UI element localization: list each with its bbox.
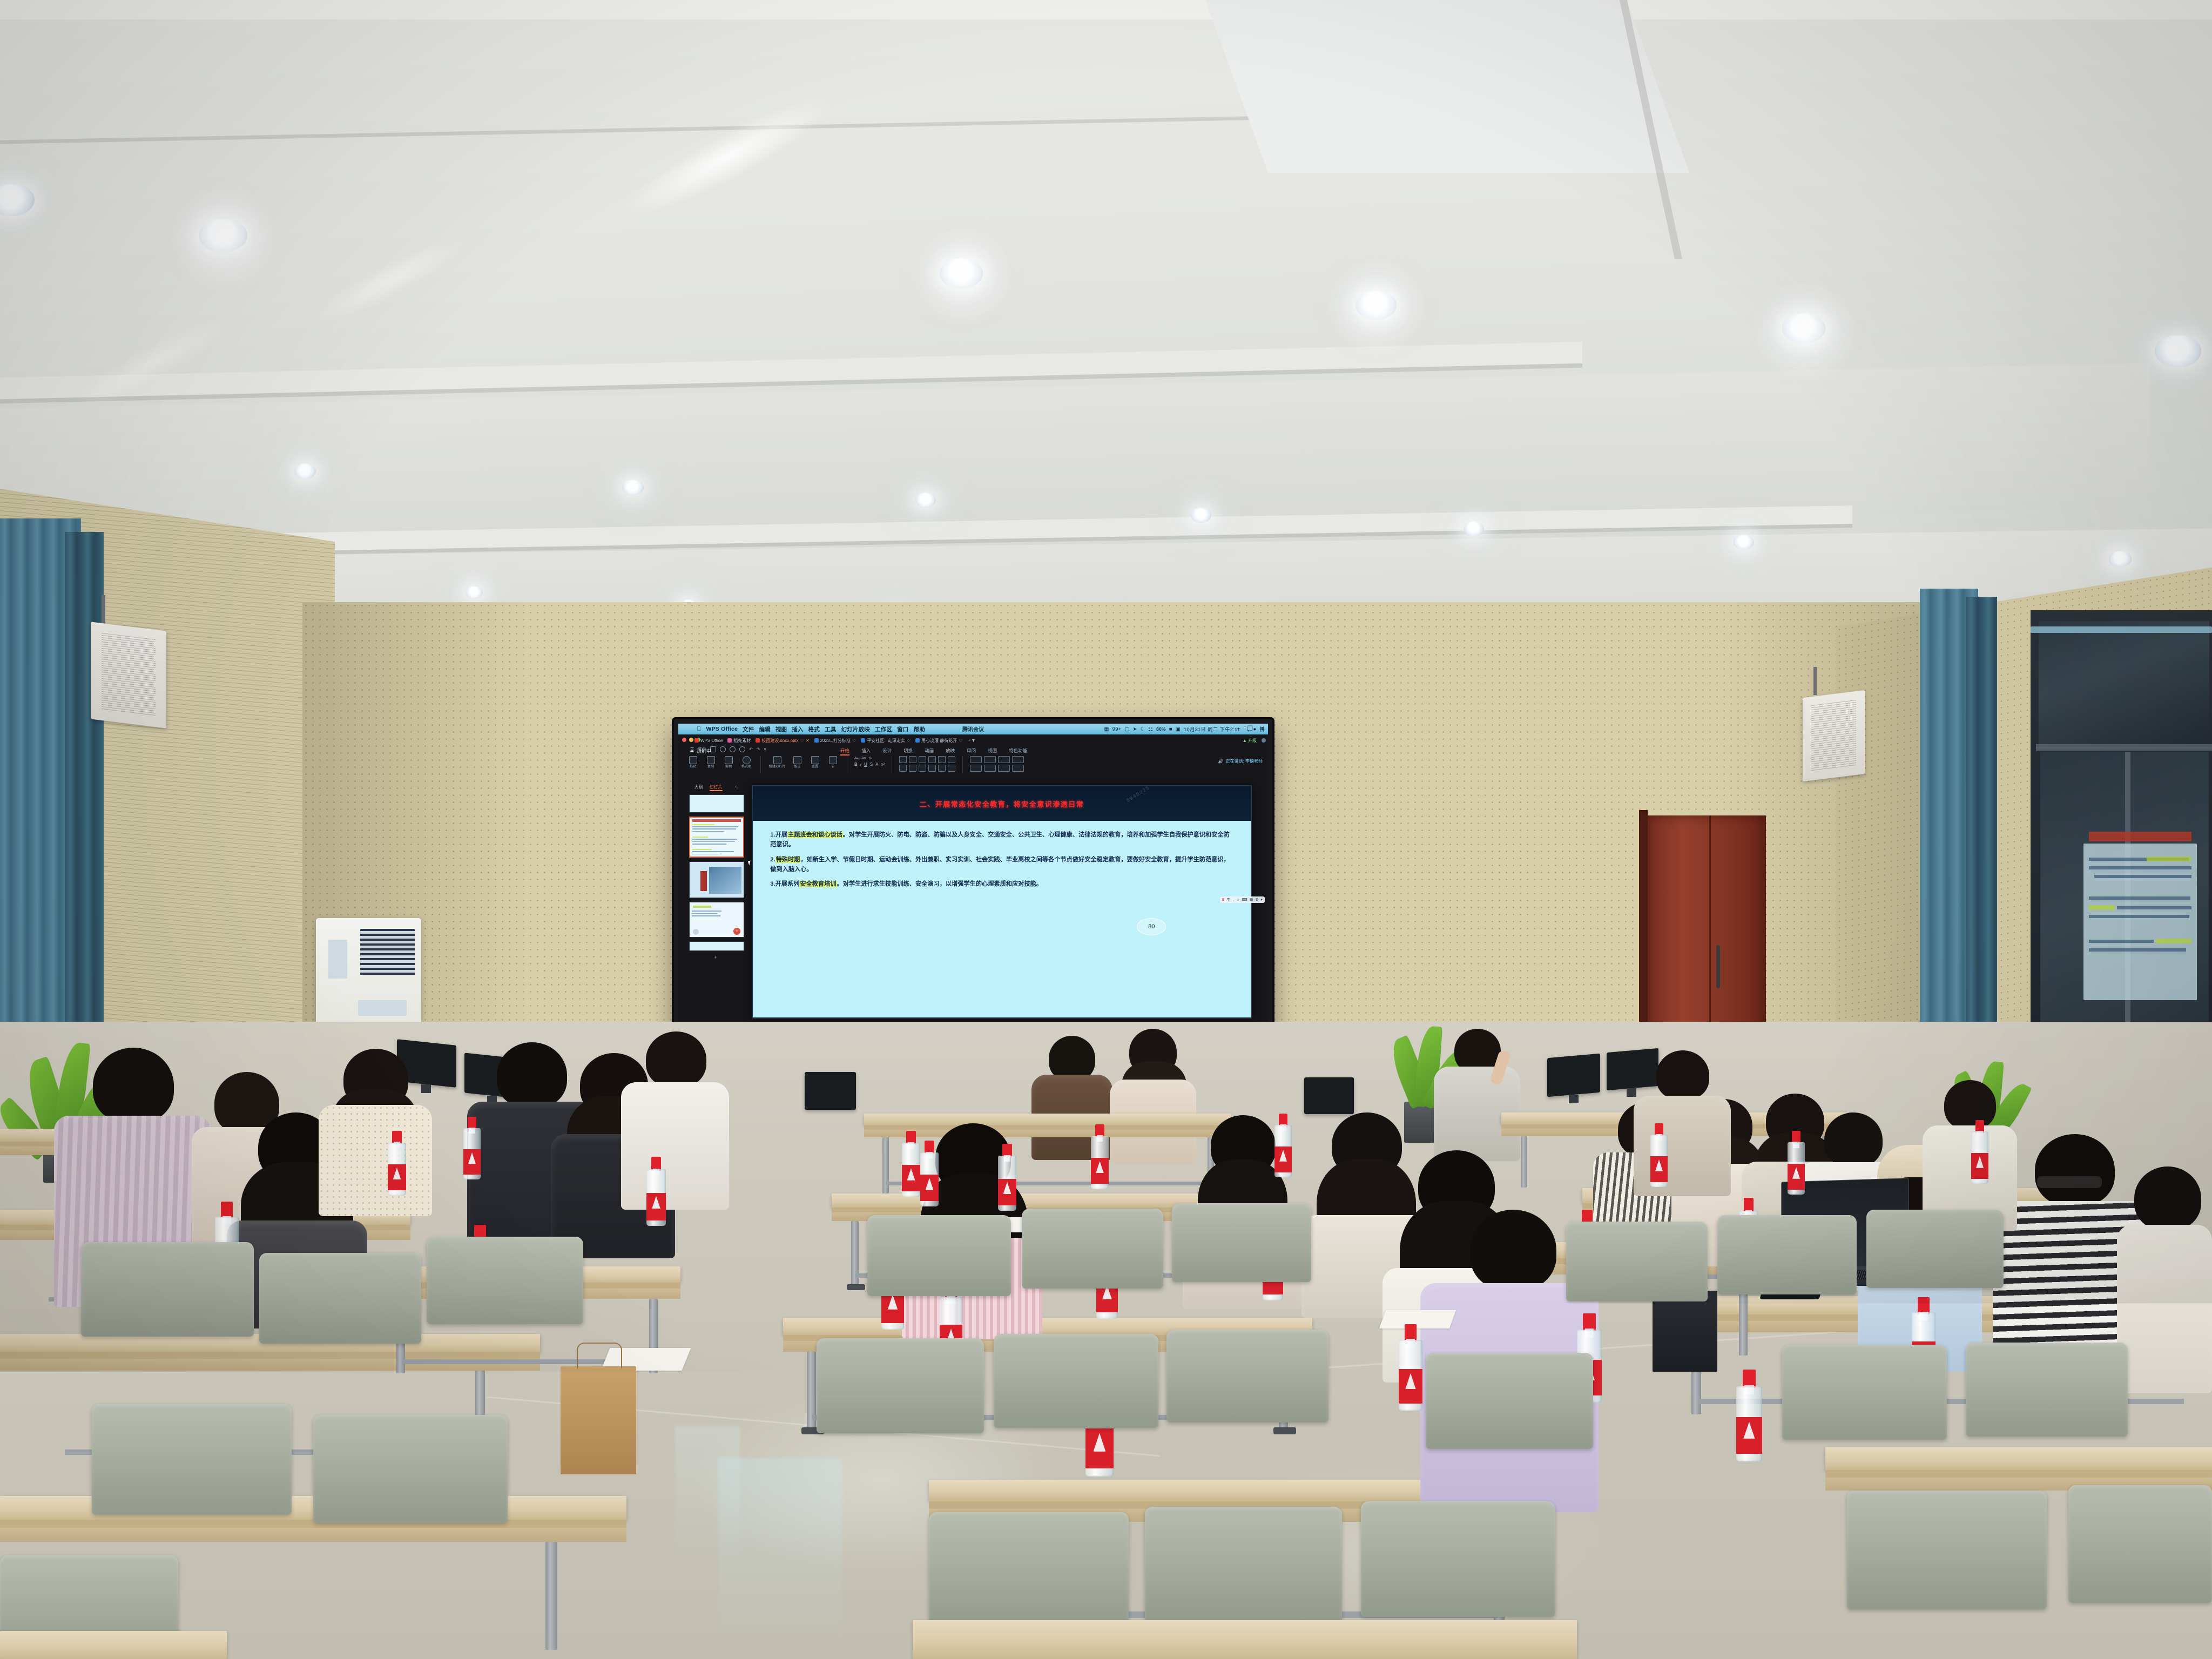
undo-icon[interactable]: ↶ — [749, 747, 753, 752]
ceiling-downlight — [622, 480, 644, 495]
tab-slides[interactable]: 幻灯片 — [710, 784, 723, 791]
ribbon-group-paragraph[interactable] — [899, 756, 955, 772]
water-bottle — [1091, 1124, 1109, 1189]
thumbnail-play-badge — [693, 929, 699, 935]
slide-thumbnail[interactable]: 8 + — [689, 902, 744, 938]
window-controls[interactable]: − ❐ ✕ — [1237, 725, 1265, 732]
bold-icon[interactable]: B — [854, 762, 858, 767]
window-pane-upper — [2039, 621, 2209, 745]
water-bottle — [388, 1131, 406, 1196]
water-bottle — [920, 1141, 939, 1206]
format-painter-icon — [743, 756, 751, 764]
pptx-icon — [756, 738, 760, 743]
thumbnail-title-bar — [693, 906, 711, 908]
conference-room-photo:  WPS Office 文件 编辑 视图 插入 格式 工具 幻灯片放映 工作区… — [0, 0, 2212, 1659]
tab-close-icon[interactable]: ✕ — [806, 738, 810, 743]
wall-speaker-right — [1803, 690, 1865, 781]
chair[interactable] — [427, 1237, 583, 1342]
ribbon-button-copy[interactable]: 复制 — [704, 756, 718, 769]
sogou-logo-icon[interactable]: S — [1222, 898, 1225, 902]
tab-pin-icon-3[interactable]: ♡ — [907, 738, 911, 743]
tab-pin-icon-4[interactable]: ♡ — [959, 738, 962, 743]
avatar[interactable] — [1262, 738, 1266, 743]
thumbnail-add-badge[interactable]: + — [733, 928, 740, 935]
chair[interactable] — [1426, 1353, 1593, 1467]
maximize-button[interactable]: ❐ — [1247, 725, 1253, 732]
current-slide[interactable]: 二、开展常态化安全教育，将安全意识渗透日常 5948225 1.开展主题班会和谈… — [752, 785, 1252, 1019]
wall-speaker-left — [91, 622, 166, 728]
chair[interactable] — [1966, 1343, 2128, 1455]
text-direction-icon[interactable] — [948, 756, 955, 763]
slide-thumbnail[interactable]: 7 — [689, 861, 744, 898]
italic-icon[interactable]: I — [860, 762, 861, 767]
align-left-icon[interactable] — [899, 765, 907, 772]
water-bottle — [1736, 1370, 1762, 1461]
add-slide-button[interactable]: + — [684, 955, 747, 961]
screen-floor-reflection-2 — [675, 1426, 740, 1566]
chair[interactable] — [1717, 1215, 1857, 1310]
chair[interactable] — [1166, 1330, 1328, 1440]
attendee — [621, 1031, 729, 1210]
slide-paragraph-1: 1.开展主题班会和谈心谈话。对学生开展防火、防电、防盗、防骗以及人身安全、交通安… — [770, 830, 1233, 849]
align-right-icon[interactable] — [919, 765, 926, 772]
ceiling-downlight — [466, 586, 483, 599]
water-bottle — [1399, 1324, 1422, 1411]
thumbnail-body-lines — [692, 824, 741, 854]
ceiling-downlight — [1191, 508, 1211, 523]
attendee — [2117, 1166, 2212, 1393]
chair[interactable] — [81, 1242, 254, 1355]
desktop-monitor — [1547, 1054, 1600, 1097]
copy-icon — [707, 756, 715, 764]
ime-toolbox-icon[interactable]: ⚙ — [1255, 898, 1258, 902]
ribbon-group-slides[interactable]: 新建幻灯片 版式 重置 节 — [768, 756, 840, 769]
picture-icon[interactable] — [984, 756, 996, 763]
fill-color-icon[interactable] — [984, 765, 996, 772]
meeting-window-title: 腾讯会议 — [678, 725, 1268, 733]
tab-outline[interactable]: 大纲 — [694, 784, 703, 791]
desk-foreground-edge-left — [0, 1631, 227, 1659]
ribbon-group-drawing[interactable] — [970, 756, 1024, 772]
chair[interactable] — [867, 1215, 1011, 1312]
ceiling-downlight — [1464, 521, 1484, 536]
water-bottle — [902, 1131, 920, 1197]
water-bottle — [646, 1157, 666, 1226]
highlight-2: 特殊时期 — [775, 857, 801, 863]
slide-body-text[interactable]: 1.开展主题班会和谈心谈话。对学生开展防火、防电、防盗、防骗以及人身安全、交通安… — [770, 830, 1233, 1010]
tab-pin-icon[interactable]: ♡ — [800, 738, 804, 743]
highlight-3: 安全教育培训 — [799, 881, 837, 887]
tab-yongxin[interactable]: 用心浇灌 静待花开 ♡ — [915, 738, 962, 744]
ceiling-downlight — [915, 493, 936, 508]
door-handle[interactable] — [1716, 945, 1720, 988]
ribbon-group-clipboard[interactable]: 粘贴 复制 剪切 格式刷 — [686, 756, 753, 769]
ribbon-tab-review[interactable]: 审阅 — [967, 747, 976, 756]
desktop-monitor — [1304, 1077, 1354, 1114]
water-bottle — [998, 1144, 1016, 1211]
document-tab-bar[interactable]: WPS Office 稻壳素材 校园建设.docx.pptx ♡ ✕ 2023.… — [694, 737, 1266, 744]
recording-indicator: ☁ 录制中 — [689, 747, 711, 754]
strikethrough-icon[interactable]: S — [870, 762, 873, 767]
sogou-ime-bar[interactable]: S 中 , ☺ ⌨ ▦ ⚙ ▾ — [1220, 896, 1265, 903]
ribbon-tab-design[interactable]: 设计 — [882, 747, 892, 756]
attendee — [1634, 1050, 1731, 1196]
new-slide-icon — [773, 756, 781, 764]
font-size-shrink-icon[interactable]: A▾ — [861, 756, 866, 760]
chair[interactable] — [1361, 1501, 1555, 1640]
collapse-panel-icon[interactable]: ‹ — [736, 784, 737, 791]
chair[interactable] — [1566, 1222, 1708, 1318]
ime-comma-icon[interactable]: , — [1232, 898, 1233, 902]
outline-color-icon[interactable] — [998, 765, 1010, 772]
ribbon-button-paste[interactable]: 粘贴 — [686, 756, 700, 769]
desktop-monitor — [805, 1072, 856, 1110]
doc-icon-2 — [861, 738, 865, 743]
tab-wps-office[interactable]: WPS Office — [694, 738, 723, 743]
redo-icon[interactable]: ↷ — [757, 747, 760, 752]
overlay-badge-80: 80 — [1137, 918, 1166, 935]
doc-icon — [814, 738, 819, 743]
ribbon-group-font[interactable]: A▴ A▾ ⊙ B I U S A x² — [854, 756, 885, 767]
font-size-grow-icon[interactable]: A▴ — [854, 756, 859, 760]
tab-pin-icon-2[interactable]: ♡ — [852, 738, 856, 743]
ime-keyboard-icon[interactable]: ⌨ — [1242, 898, 1247, 902]
thumbnail-image — [709, 867, 741, 894]
slide-paragraph-3: 3.开展系列安全教育培训。对学生进行求生技能训练、安全演习，以增强学生的心理素质… — [770, 879, 1233, 889]
bag-handle — [577, 1343, 622, 1368]
indent-increase-icon[interactable] — [928, 756, 936, 763]
tab-daoke[interactable]: 稻壳素材 — [727, 738, 751, 744]
chair[interactable] — [259, 1253, 421, 1361]
tab-active-pptx[interactable]: 校园建设.docx.pptx ♡ ✕ — [756, 738, 809, 744]
chair[interactable] — [994, 1334, 1158, 1446]
doc-icon-3 — [915, 738, 920, 743]
cloud-icon: ☁ — [689, 748, 694, 754]
slide-title-bar: 二、开展常态化安全教育，将安全意识渗透日常 — [753, 786, 1251, 821]
arrange-icon[interactable] — [998, 756, 1010, 763]
thumbnail-object — [700, 871, 707, 891]
select-icon[interactable] — [1012, 765, 1024, 772]
ceiling-downlight — [199, 219, 247, 252]
ceiling-downlight — [1734, 535, 1754, 550]
align-justify-icon[interactable] — [928, 765, 936, 772]
water-bottle — [463, 1117, 481, 1179]
ribbon-button-cut[interactable]: 剪切 — [721, 756, 736, 769]
ime-mode[interactable]: 中 — [1226, 897, 1230, 902]
ribbon-tab-insert[interactable]: 插入 — [861, 747, 871, 756]
new-tab-button[interactable]: + ▾ — [967, 738, 975, 744]
ribbon-tab-features[interactable]: 特色功能 — [1009, 747, 1027, 756]
align-center-icon[interactable] — [909, 765, 916, 772]
ribbon-button-new-slide[interactable]: 新建幻灯片 — [768, 756, 786, 769]
ribbon-button-format-painter[interactable]: 格式刷 — [739, 756, 753, 769]
ribbon-button-section[interactable]: 节 — [826, 756, 840, 769]
chair[interactable] — [817, 1338, 984, 1452]
minimize-button[interactable]: − — [1237, 725, 1240, 732]
ribbon-button-layout[interactable]: 版式 — [790, 756, 804, 769]
desk-foreground-edge — [913, 1620, 1577, 1659]
reset-icon — [811, 756, 819, 764]
ribbon-toolbar[interactable]: 粘贴 复制 剪切 格式刷 新建幻灯片 版式 重置 节 A▴ A▾ — [686, 756, 1264, 780]
ceiling-downlight — [940, 258, 983, 288]
water-bottle — [1274, 1114, 1292, 1177]
superscript-icon[interactable]: x² — [881, 762, 885, 767]
tab-pingan-community[interactable]: 平安社区...走深走实 ♡ — [861, 738, 911, 744]
water-bottle — [1971, 1120, 1988, 1184]
glasses-icon — [2037, 1176, 2102, 1188]
ceiling-downlight — [2109, 551, 2132, 567]
print-icon[interactable] — [720, 746, 726, 752]
docer-icon — [727, 738, 732, 743]
ime-panel-icon[interactable]: ▦ — [1250, 898, 1253, 902]
chair[interactable] — [313, 1415, 508, 1547]
ceiling-downlight — [2155, 335, 2201, 367]
close-dot[interactable] — [682, 738, 686, 742]
slide-thumbnail[interactable]: 8 — [689, 941, 744, 951]
thumbnail-panel-tabs[interactable]: 大纲 幻灯片 ‹ — [684, 784, 747, 791]
slide-editing-area[interactable]: 二、开展常态化安全教育，将安全意识渗透日常 5948225 1.开展主题班会和谈… — [752, 786, 1252, 1017]
wps-office-window[interactable]: WPS Office 稻壳素材 校园建设.docx.pptx ♡ ✕ 2023.… — [678, 734, 1268, 1050]
bullet-list-icon[interactable] — [899, 756, 907, 763]
slide-thumbnail[interactable]: 5 — [689, 794, 744, 813]
chair[interactable] — [2068, 1485, 2212, 1626]
minimize-dot[interactable] — [689, 738, 693, 742]
underline-icon[interactable]: U — [864, 762, 867, 767]
clear-format-icon[interactable]: ⊙ — [868, 756, 872, 760]
line-spacing-icon[interactable] — [938, 756, 946, 763]
paste-icon — [689, 756, 697, 764]
slide-paragraph-2: 2.特殊时期，如新生入学、节假日时期、运动会训练、外出兼职、实习实训、社会实践、… — [770, 855, 1233, 874]
chair[interactable] — [1866, 1210, 2004, 1304]
thumbnail-title-bar — [692, 819, 741, 822]
ribbon-tab-view[interactable]: 视图 — [988, 747, 997, 756]
ribbon-tab-slideshow[interactable]: 放映 — [946, 747, 955, 756]
close-button[interactable]: ✕ — [1259, 725, 1265, 732]
cloud-sync-icon[interactable] — [730, 746, 736, 752]
cut-icon — [725, 756, 733, 764]
projection-screen[interactable]:  WPS Office 文件 编辑 视图 插入 格式 工具 幻灯片放映 工作区… — [678, 724, 1268, 1050]
chair[interactable] — [92, 1404, 292, 1539]
layout-icon — [793, 756, 801, 764]
attendee — [1923, 1080, 2017, 1231]
chair[interactable] — [1782, 1345, 1947, 1458]
find-icon[interactable] — [1012, 756, 1024, 763]
slide-thumbnail-selected[interactable]: 6 — [689, 817, 744, 858]
number-list-icon[interactable] — [909, 756, 916, 763]
ribbon-button-reset[interactable]: 重置 — [808, 756, 822, 769]
shapes-icon[interactable] — [970, 756, 982, 763]
slide-title: 二、开展常态化安全教育，将安全意识渗透日常 — [920, 799, 1084, 809]
highlight-1: 主题班会和谈心谈话 — [787, 832, 843, 838]
columns-icon[interactable] — [938, 765, 946, 772]
chair[interactable] — [1847, 1491, 2047, 1632]
ceiling-downlight — [1355, 291, 1397, 320]
attendee — [319, 1049, 432, 1216]
slide-thumbnail-panel[interactable]: 大纲 幻灯片 ‹ 5 6 — [684, 784, 747, 1025]
ribbon-tab-strip[interactable]: 开始 插入 设计 切换 动画 放映 审阅 视图 特色功能 — [840, 747, 1027, 756]
water-bottle — [1650, 1123, 1668, 1187]
ime-emoji-icon[interactable]: ☺ — [1236, 898, 1239, 902]
chair[interactable] — [1172, 1203, 1311, 1298]
ceiling-downlight — [1782, 313, 1825, 343]
section-icon — [829, 756, 837, 764]
ime-more-icon[interactable]: ▾ — [1260, 898, 1263, 902]
tab-scoring-standard[interactable]: 2023...打分标准 ♡ — [814, 738, 857, 744]
chair[interactable] — [1022, 1209, 1163, 1305]
paper-bag — [561, 1366, 636, 1474]
ribbon-tab-home[interactable]: 开始 — [840, 747, 849, 756]
indent-decrease-icon[interactable] — [919, 756, 926, 763]
window-slide-reflection-title — [2089, 832, 2191, 841]
smartart-icon[interactable] — [948, 765, 955, 772]
shadow-icon[interactable]: A — [875, 762, 878, 767]
ribbon-tab-transition[interactable]: 切换 — [903, 747, 913, 756]
textbox-icon[interactable] — [970, 765, 982, 772]
ceiling-downlight — [294, 463, 316, 479]
wps-icon — [694, 738, 699, 743]
search-doc-icon[interactable] — [739, 746, 745, 752]
window-taskbar-reflection — [2031, 626, 2212, 633]
water-bottle — [1788, 1131, 1805, 1195]
qat-more-icon[interactable]: ▾ — [764, 747, 766, 752]
ribbon-tab-animation[interactable]: 动画 — [925, 747, 934, 756]
upgrade-button[interactable]: ▲ 升级 — [1243, 738, 1257, 744]
